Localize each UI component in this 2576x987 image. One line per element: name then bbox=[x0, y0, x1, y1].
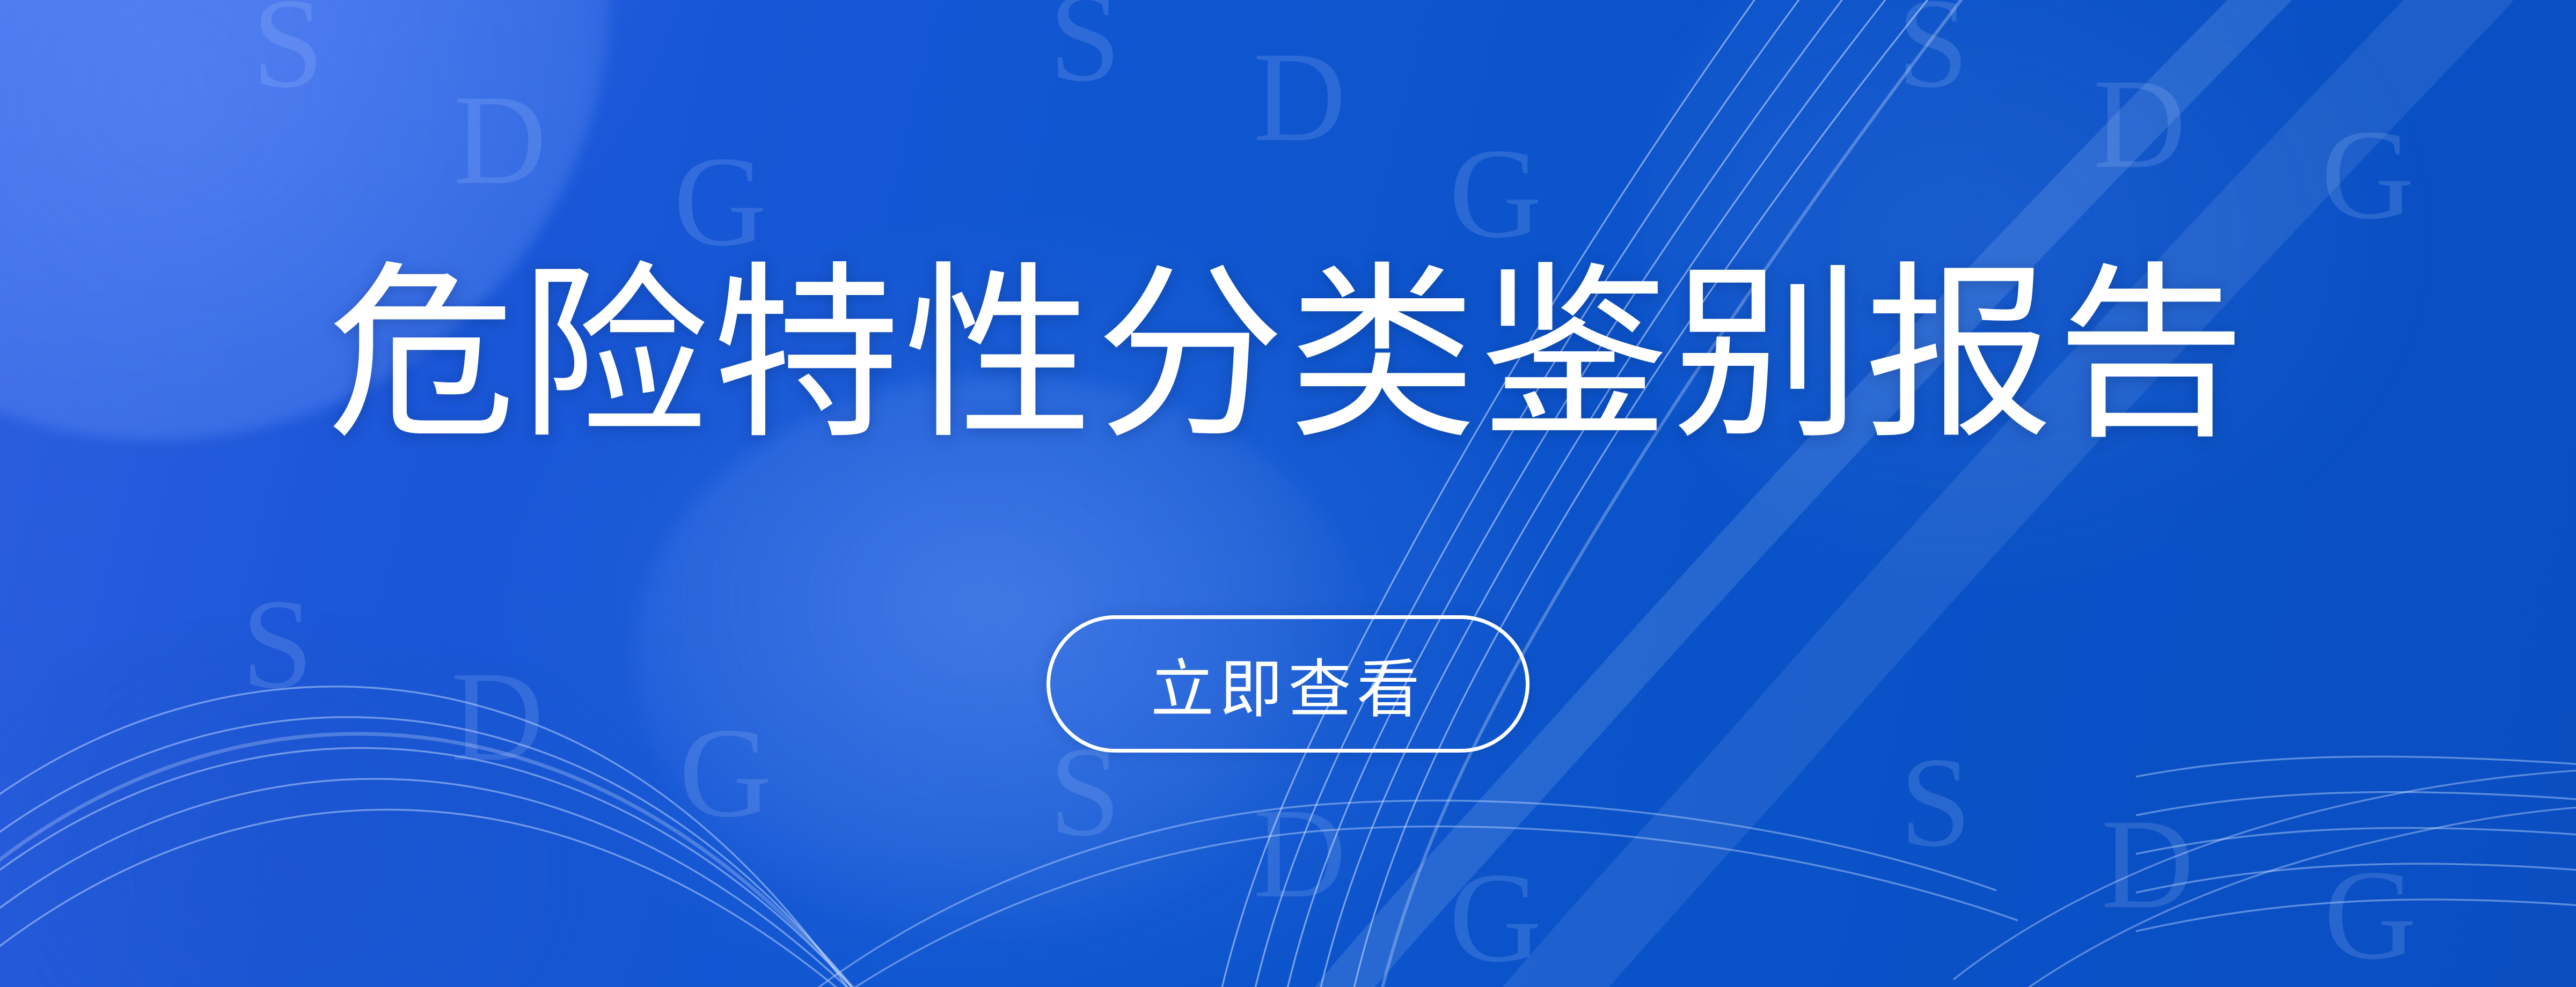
promo-banner: SDGSDGSDGSDGSDGSDG bbox=[0, 0, 2576, 987]
cta-container: 立即查看 bbox=[1046, 615, 1529, 753]
view-now-button[interactable]: 立即查看 bbox=[1046, 615, 1529, 753]
page-title: 危险特性分类鉴别报告 bbox=[327, 259, 2249, 451]
banner-content: 危险特性分类鉴别报告 立即查看 bbox=[0, 0, 2576, 987]
